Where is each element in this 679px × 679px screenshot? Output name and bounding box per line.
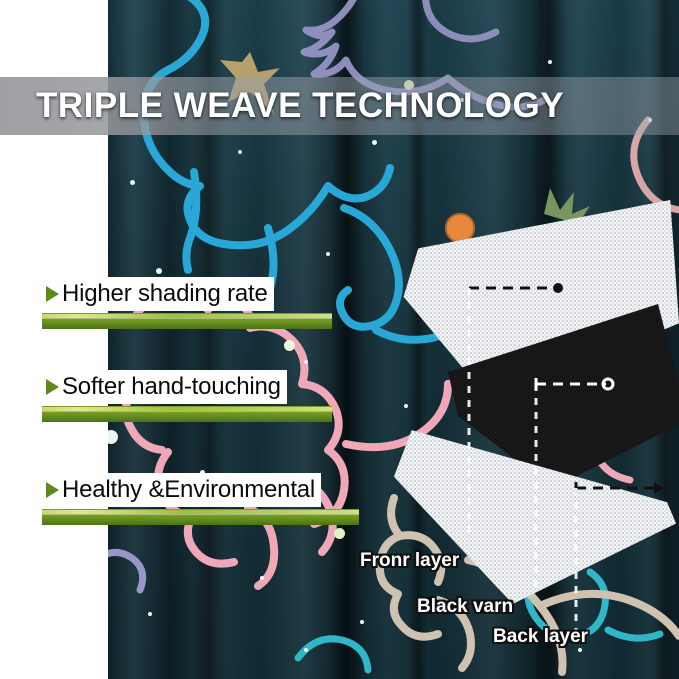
feature-label-box: Softer hand-touching: [42, 370, 287, 404]
star-dot: [304, 648, 308, 652]
feature-label-box: Higher shading rate: [42, 277, 274, 311]
star-dot: [260, 576, 264, 580]
feature-accent-bar: [42, 406, 332, 423]
star-dot: [130, 180, 135, 185]
star-dot: [372, 140, 377, 145]
glow-dot: [334, 528, 345, 539]
feature-text: Higher shading rate: [62, 280, 268, 308]
star-dot: [148, 612, 152, 616]
triangle-bullet-icon: [46, 286, 59, 302]
title-banner: TRIPLE WEAVE TECHNOLOGY: [0, 77, 679, 135]
feature-item-healthy-environmental: Healthy &Environmental: [42, 473, 359, 526]
star-dot: [548, 60, 552, 64]
fabric-layers-diagram: [386, 196, 679, 576]
feature-accent-bar: [42, 313, 332, 330]
star-dot: [156, 268, 162, 274]
glow-dot: [284, 340, 295, 351]
feature-label-box: Healthy &Environmental: [42, 473, 321, 507]
layer-label-front: Fronr layer: [360, 550, 459, 572]
star-dot: [578, 648, 582, 652]
triangle-bullet-icon: [46, 379, 59, 395]
feature-text: Healthy &Environmental: [62, 476, 315, 504]
leader-lines: [386, 196, 679, 576]
star-dot: [360, 620, 364, 624]
star-dot: [304, 360, 308, 364]
feature-text: Softer hand-touching: [62, 373, 281, 401]
page-title: TRIPLE WEAVE TECHNOLOGY: [36, 86, 564, 126]
layer-label-back: Back layer: [493, 626, 588, 648]
feature-accent-bar: [42, 509, 359, 526]
feature-item-softer-hand-touching: Softer hand-touching: [42, 370, 332, 423]
layer-label-black-yarn: Black varn: [417, 596, 513, 618]
triangle-bullet-icon: [46, 482, 59, 498]
product-infographic: Fronr layer Black varn Back layer TRIPLE…: [0, 0, 679, 679]
star-dot: [326, 252, 330, 256]
star-dot: [238, 150, 242, 154]
feature-item-higher-shading-rate: Higher shading rate: [42, 277, 332, 330]
